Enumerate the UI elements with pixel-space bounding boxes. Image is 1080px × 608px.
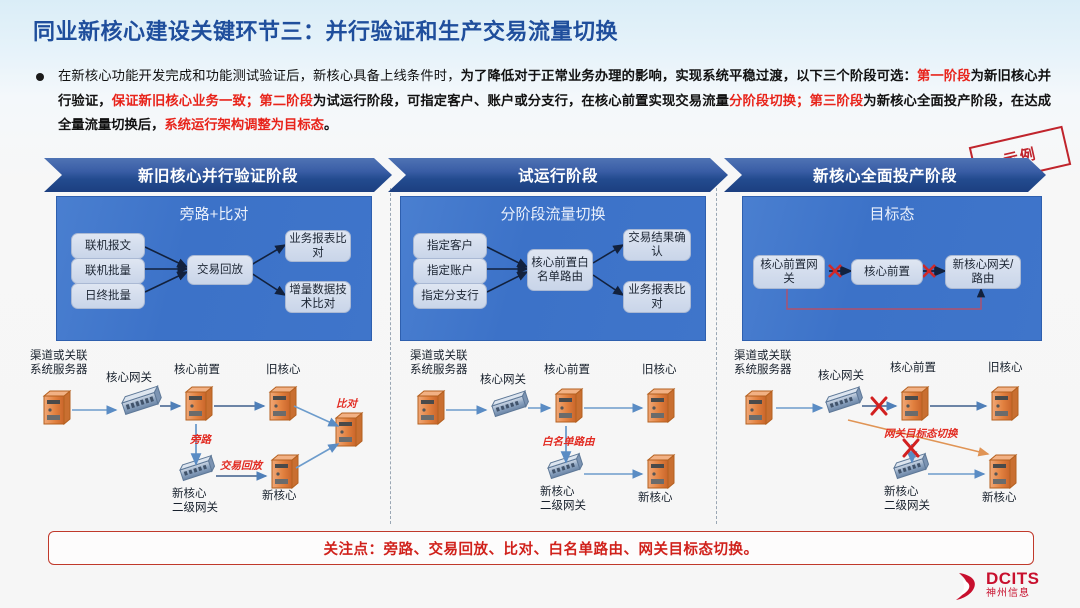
topology-3-label-old-core: 旧核心: [988, 362, 1023, 376]
logo-text-block: DCITS 神州信息: [986, 570, 1040, 600]
company-logo: DCITS 神州信息: [952, 570, 1064, 604]
dcits-mark-icon: [952, 571, 984, 603]
phase-banner-1[interactable]: 新旧核心并行验证阶段: [44, 158, 392, 192]
topology-diagram-3: 渠道或关联系统服务器 核心网关 核心前置 旧核心 网关目标态切换 新核心二级网关…: [726, 348, 1056, 520]
panel-2-input-2[interactable]: 指定分支行: [413, 283, 487, 309]
panel-1-output-0[interactable]: 业务报表比对: [285, 230, 351, 262]
topology-2-label-whitelist: 白名单路由: [542, 436, 595, 450]
logo-en-text: DCITS: [986, 570, 1040, 588]
panel-2-output-1[interactable]: 业务报表比对: [623, 281, 691, 313]
topology-3-label-frontend: 核心前置: [890, 362, 936, 376]
logo-cn-text: 神州信息: [986, 588, 1040, 600]
topology-2-label-gateway: 核心网关: [480, 374, 526, 388]
process-panel-3: 目标态 核心前置网关 核心前置 新核心网关/路由: [742, 196, 1042, 341]
topology-3-label-gateway: 核心网关: [818, 370, 864, 384]
topology-diagram-2: 渠道或关联系统服务器 核心网关 核心前置 旧核心 白名单路由 新核心二级网关 新…: [396, 348, 708, 520]
panel-2-input-1[interactable]: 指定账户: [413, 258, 487, 284]
title-band: 同业新核心建设关键环节三：并行验证和生产交易流量切换: [0, 0, 1080, 56]
panel-2-output-0[interactable]: 交易结果确认: [623, 229, 691, 261]
panel-3-node-0[interactable]: 核心前置网关: [753, 255, 825, 289]
column-divider-1: [390, 188, 391, 524]
topology-1-label-source: 渠道或关联系统服务器: [30, 350, 88, 377]
topology-1-label-compare: 比对: [336, 398, 357, 412]
topology-1-label-bypass: 旁路: [190, 434, 211, 448]
column-divider-2: [716, 188, 717, 524]
topology-2-label-frontend: 核心前置: [544, 364, 590, 378]
topology-3-label-source: 渠道或关联系统服务器: [734, 350, 792, 377]
panel-2-center[interactable]: 核心前置白名单路由: [527, 249, 593, 291]
process-panel-2: 分阶段流量切换 指定客户 指定账户 指定分支行 核心前置白名单路由 交易结果确认…: [400, 196, 706, 341]
panel-1-center[interactable]: 交易回放: [187, 255, 253, 285]
panel-2-input-0[interactable]: 指定客户: [413, 233, 487, 259]
intro-paragraph-text: 在新核心功能开发完成和功能测试验证后，新核心具备上线条件时，为了降低对于正常业务…: [58, 64, 1051, 138]
topology-2-label-new-gateway: 新核心二级网关: [540, 486, 586, 513]
topology-1-label-old-core: 旧核心: [266, 364, 301, 378]
panel-3-node-1[interactable]: 核心前置: [851, 259, 923, 285]
topology-2-label-old-core: 旧核心: [642, 364, 677, 378]
phase-banner-row: 新旧核心并行验证阶段 试运行阶段 新核心全面投产阶段: [44, 158, 1046, 192]
topology-3-label-new-core: 新核心: [982, 492, 1017, 506]
panel-1-input-2[interactable]: 日终批量: [71, 283, 145, 309]
phase-banner-3[interactable]: 新核心全面投产阶段: [724, 158, 1046, 192]
key-points-text: 关注点：旁路、交易回放、比对、白名单路由、网关目标态切换。: [324, 538, 759, 559]
panel-3-node-2[interactable]: 新核心网关/路由: [945, 255, 1021, 289]
topology-3-label-new-gateway: 新核心二级网关: [884, 486, 930, 513]
topology-1-label-new-gateway: 新核心二级网关: [172, 488, 218, 515]
topology-3-label-switch-note: 网关目标态切换: [884, 428, 958, 442]
phase-banner-2[interactable]: 试运行阶段: [388, 158, 728, 192]
topology-1-label-frontend: 核心前置: [174, 364, 220, 378]
panel-1-output-1[interactable]: 增量数据技术比对: [285, 281, 351, 313]
panel-1-input-1[interactable]: 联机批量: [71, 258, 145, 284]
panel-1-input-0[interactable]: 联机报文: [71, 233, 145, 259]
key-points-box: 关注点：旁路、交易回放、比对、白名单路由、网关目标态切换。: [48, 531, 1034, 565]
topology-diagram-1: 渠道或关联系统服务器 核心网关 核心前置 旧核心 旁路 交易回放 比对 新核心二…: [24, 348, 384, 520]
topology-1-label-replay: 交易回放: [220, 460, 262, 474]
topology-2-label-source: 渠道或关联系统服务器: [410, 350, 468, 377]
topology-1-label-gateway: 核心网关: [106, 372, 152, 386]
topology-2-label-new-core: 新核心: [638, 492, 673, 506]
intro-paragraph-block: 在新核心功能开发完成和功能测试验证后，新核心具备上线条件时，为了降低对于正常业务…: [36, 64, 1051, 138]
process-panel-1: 旁路+比对 联机报文 联机批量 日终批量 交易回放 业务报表比对 增量数据技术比…: [56, 196, 372, 341]
topology-1-label-new-core: 新核心: [262, 490, 297, 504]
page-title: 同业新核心建设关键环节三：并行验证和生产交易流量切换: [33, 14, 618, 46]
bullet-dot-icon: [36, 73, 44, 81]
